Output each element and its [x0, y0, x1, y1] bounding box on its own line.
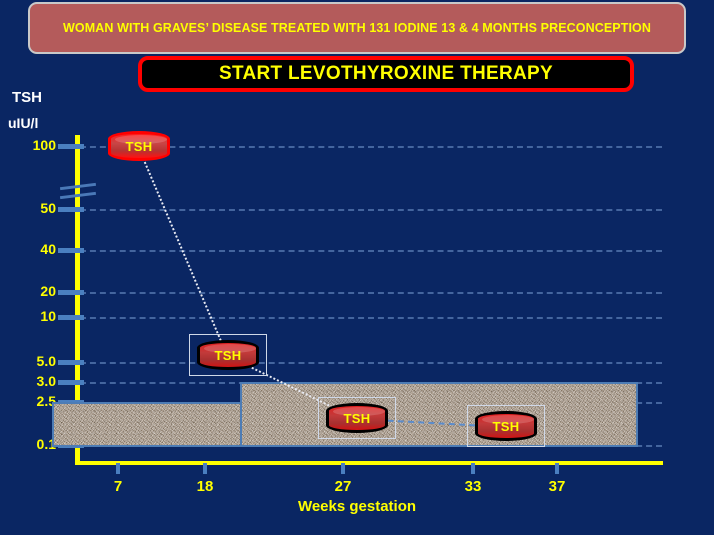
y-axis-label-wrap: 3.0	[0, 374, 56, 388]
y-axis-label-wrap: 2.5	[0, 394, 56, 408]
y-axis-label: 10	[2, 309, 56, 323]
gridline	[80, 250, 662, 252]
y-axis-label: 20	[2, 284, 56, 298]
marker-cylinder-icon: TSH	[475, 411, 537, 441]
y-axis-tick	[58, 315, 84, 320]
marker-cylinder-icon: TSH	[108, 131, 170, 161]
y-axis-label: 50	[2, 201, 56, 215]
x-axis-label: 18	[182, 478, 228, 495]
y-axis-tick	[58, 360, 84, 365]
marker-cylinder-icon: TSH	[326, 403, 388, 433]
x-axis-tick	[555, 463, 559, 474]
y-axis-label-wrap: 0.1	[0, 437, 56, 451]
y-axis-title-units: uIU/l	[8, 115, 38, 131]
y-axis-title-tsh: TSH	[12, 89, 42, 106]
x-axis-line	[75, 461, 663, 465]
marker-cylinder-icon: TSH	[197, 340, 259, 370]
y-axis-tick	[58, 207, 84, 212]
gridline	[80, 362, 662, 364]
x-axis-tick	[203, 463, 207, 474]
x-axis-label: 27	[320, 478, 366, 495]
x-axis-tick	[471, 463, 475, 474]
x-axis-tick	[116, 463, 120, 474]
y-axis-label: 40	[2, 242, 56, 256]
y-axis-tick	[58, 380, 84, 385]
gridline	[80, 292, 662, 294]
y-axis-label: 2.5	[2, 394, 56, 408]
y-axis-label: 100	[2, 138, 56, 152]
y-axis-label-wrap: 50	[0, 201, 56, 215]
therapy-callout-text: START LEVOTHYROXINE THERAPY	[219, 63, 553, 85]
tsh-data-marker: TSH	[197, 340, 259, 370]
y-axis-tick	[58, 290, 84, 295]
y-axis-label-wrap: 20	[0, 284, 56, 298]
slide-title-banner: WOMAN WITH GRAVES’ DISEASE TREATED WITH …	[28, 2, 686, 54]
therapy-callout-box: START LEVOTHYROXINE THERAPY	[138, 56, 634, 92]
marker-label: TSH	[344, 411, 371, 426]
y-axis-label: 3.0	[2, 374, 56, 388]
gridline	[80, 209, 662, 211]
x-axis-label: 33	[450, 478, 496, 495]
x-axis-tick	[341, 463, 345, 474]
gridline	[80, 317, 662, 319]
tsh-data-marker: TSH	[326, 403, 388, 433]
y-axis-tick	[58, 144, 84, 149]
marker-label: TSH	[215, 348, 242, 363]
slide-canvas: WOMAN WITH GRAVES’ DISEASE TREATED WITH …	[0, 0, 714, 535]
y-axis-label-wrap: 5.0	[0, 354, 56, 368]
reference-band	[52, 402, 244, 447]
marker-label: TSH	[493, 419, 520, 434]
marker-label: TSH	[126, 139, 153, 154]
x-axis-label: 37	[534, 478, 580, 495]
tsh-data-marker: TSH	[108, 131, 170, 161]
y-axis-tick	[58, 248, 84, 253]
x-axis-label: 7	[95, 478, 141, 495]
tsh-data-marker: TSH	[475, 411, 537, 441]
y-axis-label-wrap: 40	[0, 242, 56, 256]
y-axis-label: 0.1	[2, 437, 56, 451]
y-axis-label-wrap: 10	[0, 309, 56, 323]
slide-title-text: WOMAN WITH GRAVES’ DISEASE TREATED WITH …	[63, 19, 651, 37]
x-axis-title: Weeks gestation	[0, 498, 714, 515]
y-axis-label: 5.0	[2, 354, 56, 368]
y-axis-label-wrap: 100	[0, 138, 56, 152]
